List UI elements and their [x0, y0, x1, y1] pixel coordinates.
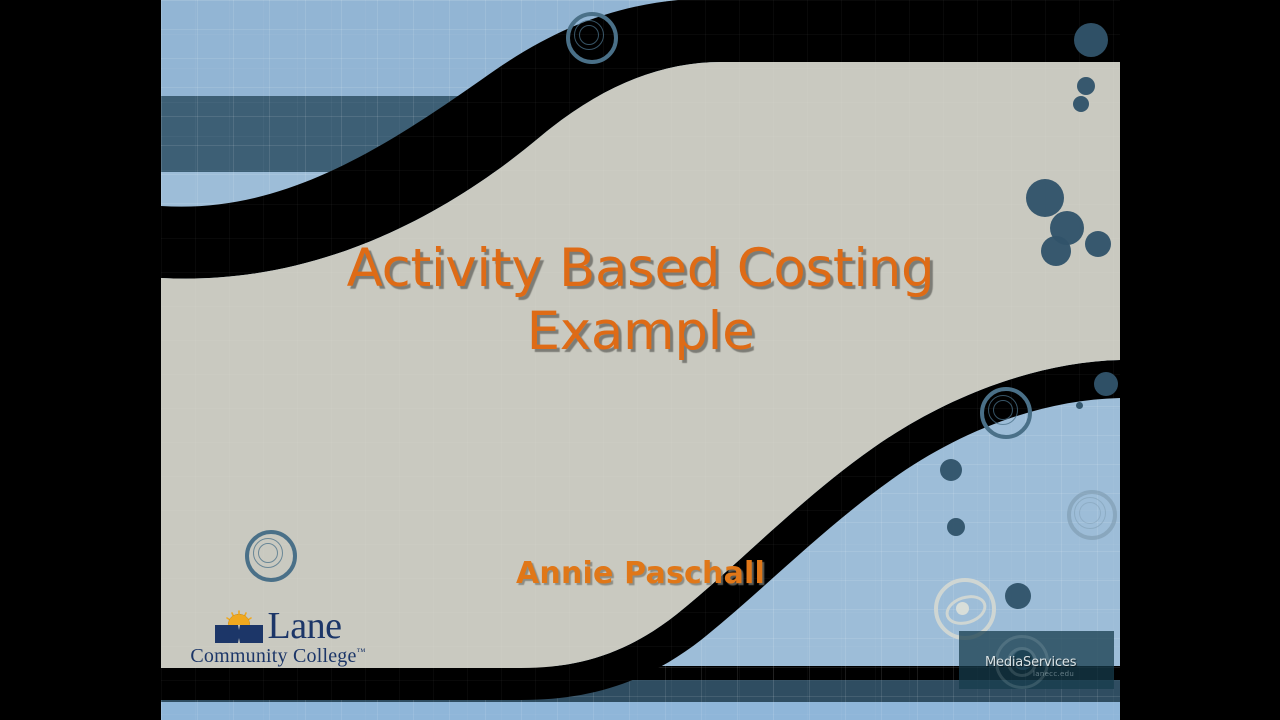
presentation-slide: Activity Based Costing Example Annie Pas…	[161, 0, 1120, 720]
letterbox-left	[0, 0, 161, 720]
slide-subtitle: Annie Paschall	[161, 556, 1120, 591]
video-frame: Activity Based Costing Example Annie Pas…	[0, 0, 1280, 720]
title-line-1: Activity Based Costing	[161, 238, 1120, 301]
letterbox-right	[1120, 0, 1280, 720]
slide-title: Activity Based Costing Example	[161, 238, 1120, 363]
logo-tagline: Community College™	[173, 645, 383, 668]
logo-trademark-symbol: ™	[357, 646, 366, 656]
title-line-2: Example	[161, 301, 1120, 364]
open-book-sunrise-icon	[215, 610, 263, 644]
watermark-subtitle: lanecc.edu	[1033, 670, 1074, 678]
logo-wordmark: Lane	[268, 608, 342, 644]
watermark-title: MediaServices	[985, 655, 1076, 670]
lane-community-college-logo: Lane Community College™	[173, 606, 383, 668]
presenter-name: Annie Paschall	[516, 556, 765, 591]
logo-tagline-text: Community College	[190, 645, 356, 667]
media-services-watermark: MediaServices lanecc.edu	[959, 631, 1114, 689]
